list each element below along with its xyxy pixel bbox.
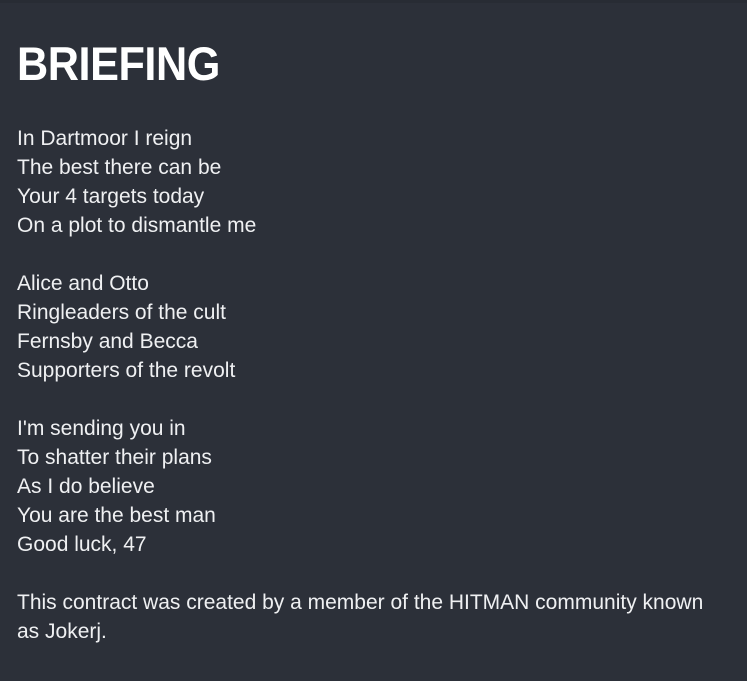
poem-stanza: In Dartmoor I reign The best there can b… bbox=[17, 124, 717, 240]
briefing-panel: BRIEFING In Dartmoor I reign The best th… bbox=[0, 0, 747, 681]
poem-line: As I do believe bbox=[17, 472, 717, 501]
poem-line: Ringleaders of the cult bbox=[17, 298, 717, 327]
poem-line: In Dartmoor I reign bbox=[17, 124, 717, 153]
page-title: BRIEFING bbox=[17, 38, 220, 90]
poem-line: To shatter their plans bbox=[17, 443, 717, 472]
poem-line: Good luck, 47 bbox=[17, 530, 717, 559]
poem-line: Your 4 targets today bbox=[17, 182, 717, 211]
poem-stanza: Alice and Otto Ringleaders of the cult F… bbox=[17, 269, 717, 385]
poem-line: Supporters of the revolt bbox=[17, 356, 717, 385]
poem-stanza: I'm sending you in To shatter their plan… bbox=[17, 414, 717, 559]
briefing-body: In Dartmoor I reign The best there can b… bbox=[17, 124, 717, 646]
contract-attribution: This contract was created by a member of… bbox=[17, 588, 717, 646]
poem-line: You are the best man bbox=[17, 501, 717, 530]
poem-line: The best there can be bbox=[17, 153, 717, 182]
poem-line: I'm sending you in bbox=[17, 414, 717, 443]
poem-line: On a plot to dismantle me bbox=[17, 211, 717, 240]
poem-line: Fernsby and Becca bbox=[17, 327, 717, 356]
poem-line: Alice and Otto bbox=[17, 269, 717, 298]
